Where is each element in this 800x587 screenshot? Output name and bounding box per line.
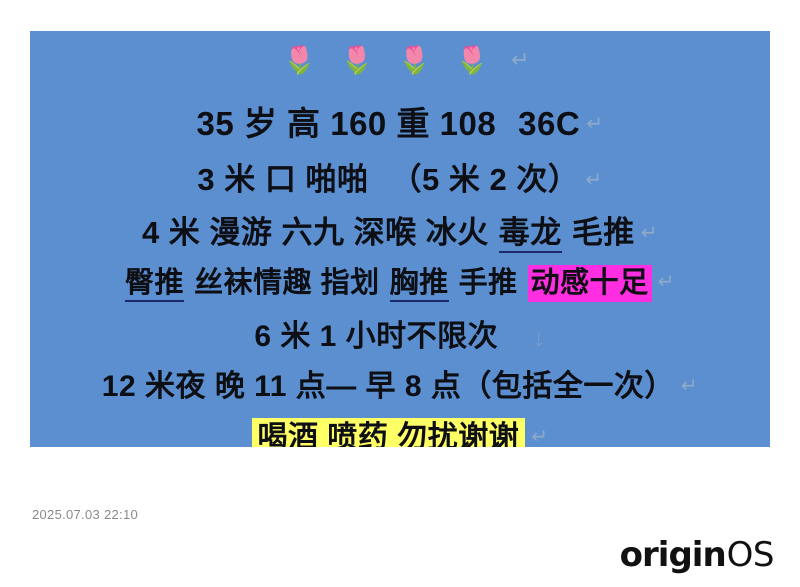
text-line-six-mi: 6 米 1 小时不限次↓	[30, 322, 770, 352]
enter-mark-icon: ↵	[586, 114, 603, 134]
text-line-twelve-mi: 12 米夜 晚 11 点— 早 8 点（包括全一次）↵	[30, 372, 770, 402]
logo-text-origin: origin	[620, 538, 726, 572]
text-line-notice: 喝酒 喷药 勿扰谢谢↵	[30, 423, 770, 447]
logo-text-os: OS	[727, 538, 774, 572]
enter-mark-icon: ↵	[531, 427, 548, 447]
screenshot-root: 🌷 🌷 🌷 🌷 ↵ 35 岁 高 160 重 10836C↵ 3 米 口 啪啪（…	[0, 0, 800, 587]
enter-mark-icon: ↵	[658, 272, 675, 292]
four-mi-underlined-service: 毒龙	[499, 215, 562, 253]
text-line-three-mi: 3 米 口 啪啪（5 米 2 次）↵	[30, 164, 770, 195]
tulip-icon: 🌷	[398, 47, 432, 74]
tulip-icon: 🌷	[283, 47, 317, 74]
down-arrow-icon: ↓	[532, 324, 546, 350]
timestamp-label: 2025.07.03 22:10	[32, 507, 138, 522]
originos-logo: originOS	[620, 538, 774, 572]
text-line-services: 臀推丝袜情趣 指划胸推手推动感十足↵	[30, 269, 770, 298]
enter-mark-icon: ↵	[511, 49, 529, 71]
flower-row: 🌷 🌷 🌷 🌷 ↵	[30, 37, 770, 83]
service-stockings: 丝袜情趣 指划	[194, 267, 380, 299]
four-mi-services: 4 米 漫游 六九 深喉 冰火	[142, 215, 489, 250]
stats-measurements: 35 岁 高 160 重 108	[197, 105, 497, 142]
service-hip-push: 臀推	[125, 267, 184, 302]
service-chest-push: 胸推	[390, 267, 449, 302]
twelve-mi-overnight: 12 米夜 晚 11 点— 早 8 点（包括全一次）	[102, 370, 675, 403]
text-line-stats: 35 岁 高 160 重 10836C↵	[30, 107, 770, 140]
tulip-icon: 🌷	[340, 47, 374, 74]
stats-cup-size: 36C	[518, 105, 580, 142]
four-mi-last-service: 毛推	[572, 215, 635, 250]
highlight-dynamic: 动感十足	[528, 265, 652, 302]
tulip-icon: 🌷	[455, 47, 489, 74]
three-mi-services: 3 米 口 啪啪	[197, 162, 368, 197]
service-hand-push: 手推	[459, 267, 518, 299]
six-mi-hourly: 6 米 1 小时不限次	[254, 320, 498, 353]
message-card: 🌷 🌷 🌷 🌷 ↵ 35 岁 高 160 重 10836C↵ 3 米 口 啪啪（…	[30, 31, 770, 447]
text-line-four-mi: 4 米 漫游 六九 深喉 冰火毒龙毛推↵	[30, 217, 770, 248]
enter-mark-icon: ↵	[585, 170, 602, 190]
enter-mark-icon: ↵	[681, 376, 698, 396]
highlight-notice: 喝酒 喷药 勿扰谢谢	[252, 418, 526, 447]
enter-mark-icon: ↵	[641, 223, 658, 243]
three-mi-note: （5 米 2 次）	[391, 162, 580, 197]
